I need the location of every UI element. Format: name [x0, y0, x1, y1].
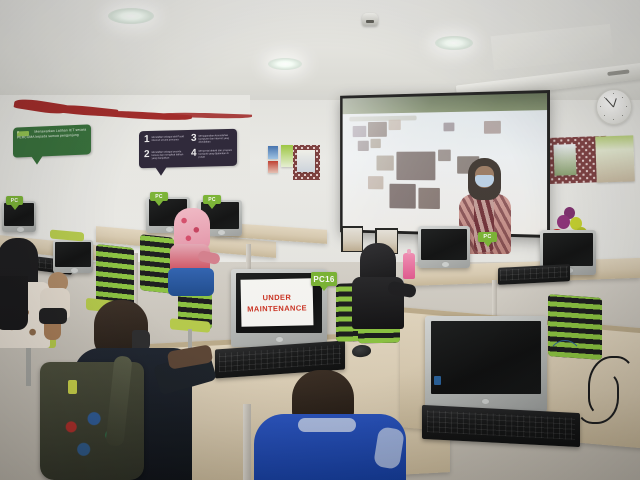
video-tile	[443, 123, 454, 132]
boy-with-backpack	[44, 300, 194, 480]
wall-poster	[268, 161, 278, 173]
poster-step: 1 Mendaftar sebagai ahli Pusat Internet …	[144, 134, 188, 144]
wall-poster	[281, 145, 293, 167]
poster-green-bubble: P Menawarkan Latihan ICT secara PERCUMA …	[13, 124, 91, 157]
poster-step: 3 Menggunakan kemudahan komputer dan int…	[191, 133, 235, 145]
computer-monitor	[418, 226, 470, 268]
video-tile	[396, 152, 435, 181]
video-tile	[389, 184, 415, 209]
hp-logo-icon	[441, 261, 450, 268]
shirt-collar	[298, 418, 356, 432]
student-lower	[168, 268, 214, 296]
poster-green-prefix: P	[17, 130, 19, 134]
pc-label-text: PC	[155, 194, 163, 200]
projected-topbar	[343, 93, 547, 114]
monitor-screen	[431, 321, 541, 394]
cable-bundle	[547, 340, 583, 382]
video-tile	[358, 141, 369, 151]
projected-content	[343, 93, 547, 235]
video-tile	[377, 156, 394, 171]
video-tile	[418, 188, 439, 209]
student-hijab-pink	[164, 208, 222, 294]
bubble-tail	[155, 167, 167, 176]
screen-glare	[343, 93, 547, 235]
desk-leg	[492, 280, 497, 320]
poster-step: 4 Menyertai aktiviti dan program komunit…	[191, 148, 235, 160]
poster-step-text: Mendaftar sebagai ahli Pusat Internet se…	[152, 134, 188, 144]
boy-blue-shirt	[250, 370, 410, 480]
pc-label-tag: PC	[478, 232, 497, 242]
monitor-screen	[421, 229, 467, 260]
hp-logo-icon	[16, 226, 25, 233]
video-tile	[389, 120, 401, 131]
video-tile	[368, 122, 387, 137]
video-tile	[371, 139, 381, 148]
computer-monitor	[2, 201, 36, 232]
video-tile	[484, 121, 501, 134]
video-tile	[368, 176, 383, 189]
wall-poster	[268, 146, 278, 159]
poster-step-number: 2	[144, 150, 150, 161]
backpack-buckle-icon	[68, 380, 77, 394]
hijab-drape	[0, 276, 28, 330]
projected-url-bar	[349, 116, 416, 122]
monitor-screen	[4, 203, 34, 226]
maintenance-line-2: MAINTENANCE	[247, 302, 307, 314]
wall-poster	[297, 150, 315, 172]
monitor-sticker	[434, 376, 441, 385]
ceiling-light	[268, 58, 302, 70]
pc-label-text: PC16	[313, 275, 334, 284]
water-bottle	[403, 253, 415, 279]
classroom-photo: P Menawarkan Latihan ICT secara PERCUMA …	[0, 0, 640, 480]
pc-label-tag: PC	[6, 196, 23, 205]
bubble-tail	[31, 155, 43, 165]
poster-steps-bubble: 1 Mendaftar sebagai ahli Pusat Internet …	[139, 129, 237, 169]
projector-screen	[340, 90, 550, 238]
poster-step-number: 1	[144, 135, 150, 144]
video-tile	[438, 150, 451, 162]
poster-step: 2 Mendaftar sebagai peserta kursus dan m…	[144, 149, 188, 161]
chair-leg	[26, 346, 31, 386]
video-tile	[353, 126, 367, 137]
poster-green-text: Menawarkan Latihan ICT secara PERCUMA ke…	[17, 128, 86, 140]
poster-step-text: Mendaftar sebagai peserta kursus dan men…	[152, 149, 188, 161]
smoke-detector-icon	[362, 13, 378, 26]
wall-poster	[553, 144, 576, 176]
poster-step-text: Menggunakan kemudahan komputer dan inter…	[199, 133, 235, 145]
wall-poster	[595, 135, 635, 182]
pc-label-text: PC	[483, 234, 491, 240]
computer-monitor-pc15	[425, 316, 547, 412]
poster-step-number: 4	[191, 149, 197, 160]
pc-label-text: PC	[208, 197, 216, 203]
pc-label-tag-16[interactable]: PC16	[311, 272, 337, 286]
hp-logo-icon	[275, 336, 284, 343]
ceiling-light	[435, 36, 473, 50]
monitor-screen	[543, 233, 593, 266]
pc-label-tag: PC	[150, 192, 168, 201]
pc-label-text: PC	[11, 198, 19, 204]
maintenance-line-1: UNDER	[262, 291, 291, 303]
pc-label-tag: PC	[203, 195, 221, 204]
wall-board-batik	[293, 145, 320, 180]
flower-petal	[557, 215, 570, 229]
hp-logo-icon	[481, 398, 490, 405]
ceiling-light	[108, 8, 154, 24]
under-maintenance-sign: UNDER MAINTENANCE	[241, 278, 314, 326]
poster-step-text: Menyertai aktiviti dan program komuniti …	[199, 148, 235, 160]
wall-clock	[596, 89, 632, 125]
poster-step-number: 3	[191, 134, 197, 145]
